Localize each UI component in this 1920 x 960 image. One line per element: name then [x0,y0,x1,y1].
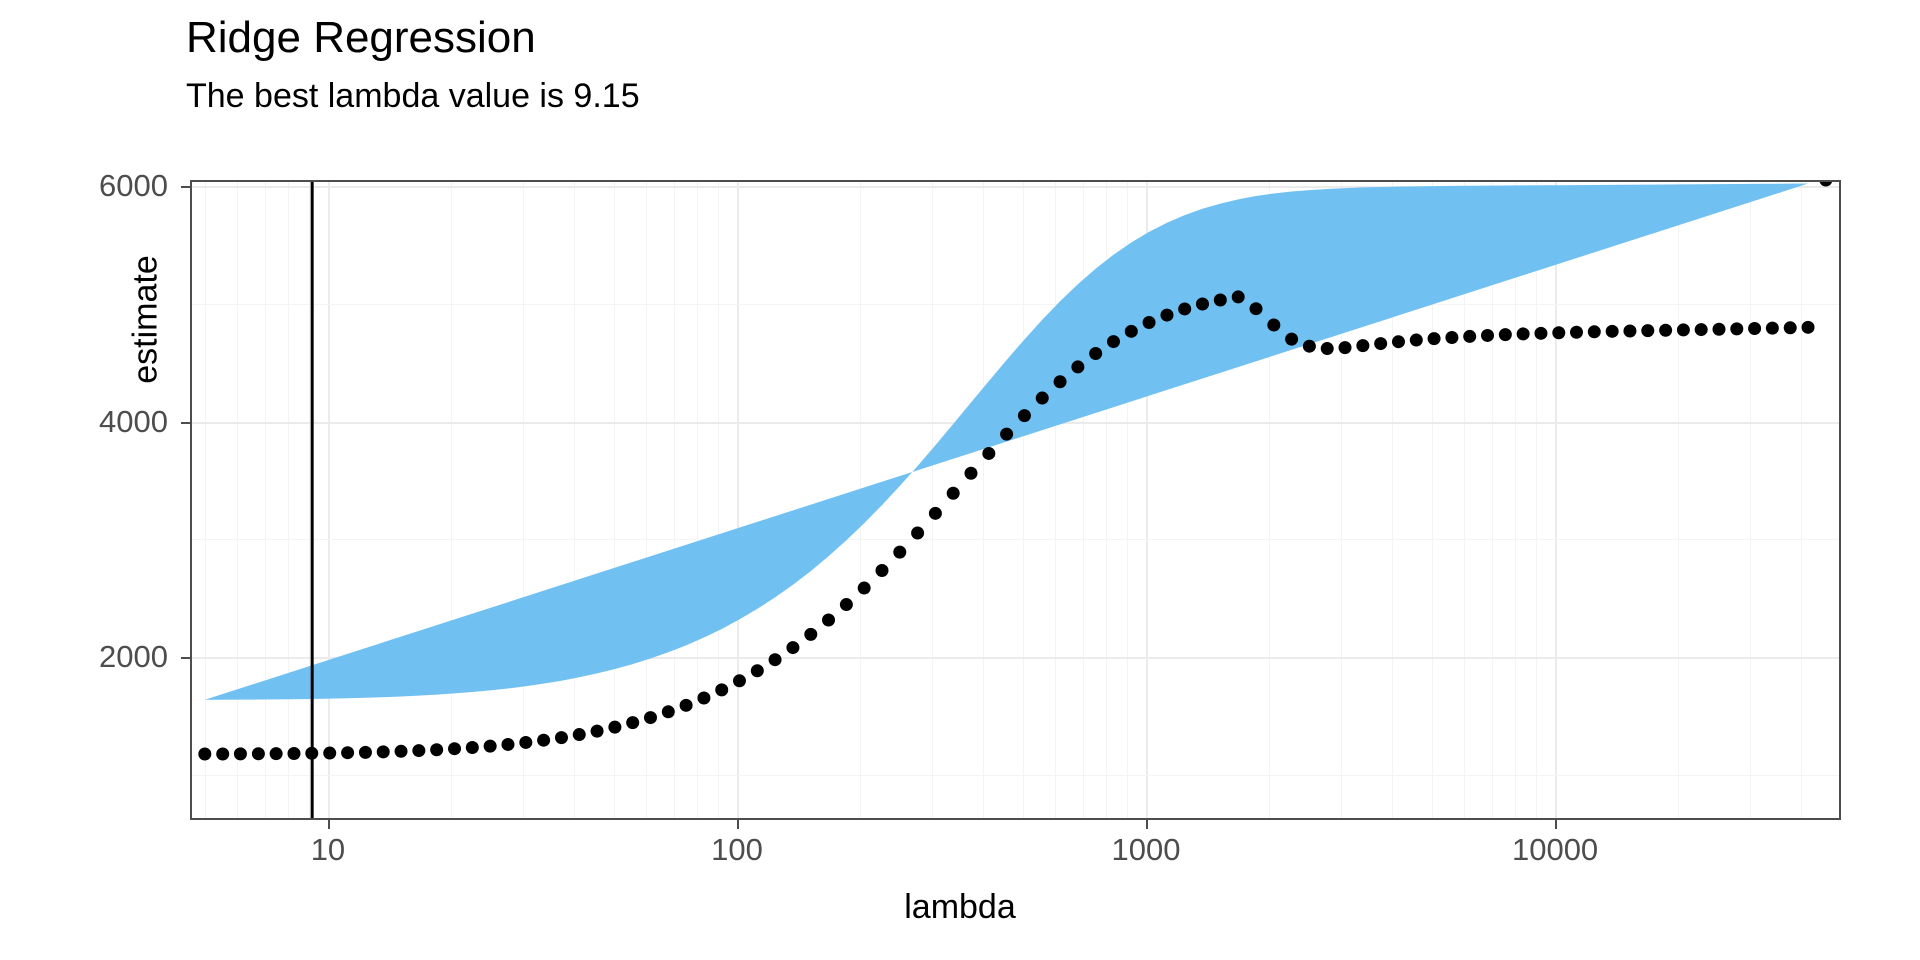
data-point [591,725,604,738]
confidence-band [205,184,1808,700]
data-point [840,598,853,611]
data-point [1107,335,1120,348]
data-point [448,742,461,755]
data-point [1445,331,1458,344]
data-point [1517,327,1530,340]
y-tick-mark [181,186,190,188]
data-point [680,699,693,712]
data-point [858,582,871,595]
data-point [234,747,247,760]
data-layer [190,180,1841,820]
data-point [484,740,497,753]
x-axis-title: lambda [0,888,1920,927]
data-point [1410,334,1423,347]
data-point [1160,309,1173,322]
data-point [1534,327,1547,340]
data-point [1196,297,1209,310]
y-tick-label: 6000 [99,168,168,204]
data-point [198,748,211,761]
data-point [893,546,906,559]
x-tick-label: 100 [711,832,763,868]
data-point [252,747,265,760]
data-point [1481,329,1494,342]
plot-panel [190,180,1841,820]
x-tick-mark [328,820,330,829]
data-point [1089,347,1102,360]
data-point [1641,324,1654,337]
data-point [1819,180,1832,187]
x-tick-label: 10000 [1512,832,1598,868]
data-point [1178,302,1191,315]
data-point [1214,293,1227,306]
x-tick-mark [1555,820,1557,829]
data-point [1392,335,1405,348]
data-point [1232,290,1245,303]
data-point [1606,325,1619,338]
data-point [1339,341,1352,354]
data-point [911,527,924,540]
data-point [1730,322,1743,335]
data-point [359,746,372,759]
data-point [1748,322,1761,335]
data-point [395,745,408,758]
data-point [822,613,835,626]
data-point [377,745,390,758]
data-point [1321,342,1334,355]
data-point [786,641,799,654]
data-point [1623,324,1636,337]
data-point [1250,302,1263,315]
data-point [608,721,621,734]
data-point [1054,375,1067,388]
data-point [751,664,764,677]
y-tick-mark [181,422,190,424]
data-point [573,728,586,741]
data-point [804,628,817,641]
y-tick-label: 4000 [99,404,168,440]
data-point [982,447,995,460]
data-point [1125,325,1138,338]
data-point [341,746,354,759]
data-point [430,743,443,756]
x-tick-label: 1000 [1112,832,1181,868]
data-point [501,738,514,751]
data-point [216,748,229,761]
data-point [1570,326,1583,339]
data-point [1499,328,1512,341]
data-point [1463,330,1476,343]
data-point [1356,339,1369,352]
chart-root: Ridge Regression The best lambda value i… [0,0,1920,960]
data-point [626,716,639,729]
data-point [287,747,300,760]
data-point [1784,321,1797,334]
data-point [876,564,889,577]
y-tick-label: 2000 [99,639,168,675]
chart-subtitle: The best lambda value is 9.15 [186,78,640,115]
data-point [270,747,283,760]
data-point [1766,322,1779,335]
data-point [1036,392,1049,405]
data-point [1659,324,1672,337]
data-point [412,744,425,757]
data-point [1713,323,1726,336]
data-point [1285,333,1298,346]
data-point [947,487,960,500]
data-point [1677,323,1690,336]
data-point [1303,340,1316,353]
data-point [1428,332,1441,345]
data-point [466,741,479,754]
data-point [537,734,550,747]
x-tick-mark [1146,820,1148,829]
data-point [715,683,728,696]
page-title: Ridge Regression [186,14,536,62]
y-tick-mark [181,657,190,659]
data-point [1552,326,1565,339]
data-point [1588,325,1601,338]
data-point [769,653,782,666]
data-point [1374,337,1387,350]
data-point [1695,323,1708,336]
data-point [662,705,675,718]
data-point [697,692,710,705]
data-point [1018,409,1031,422]
x-tick-mark [737,820,739,829]
data-point [1143,316,1156,329]
data-point [929,507,942,520]
data-point [555,731,568,744]
data-point [1802,321,1815,334]
data-point [733,674,746,687]
x-tick-label: 10 [311,832,345,868]
data-point [644,711,657,724]
data-point [1071,360,1084,373]
data-point [519,736,532,749]
data-point [1267,318,1280,331]
data-point [323,747,336,760]
data-point [1000,428,1013,441]
data-point [964,467,977,480]
